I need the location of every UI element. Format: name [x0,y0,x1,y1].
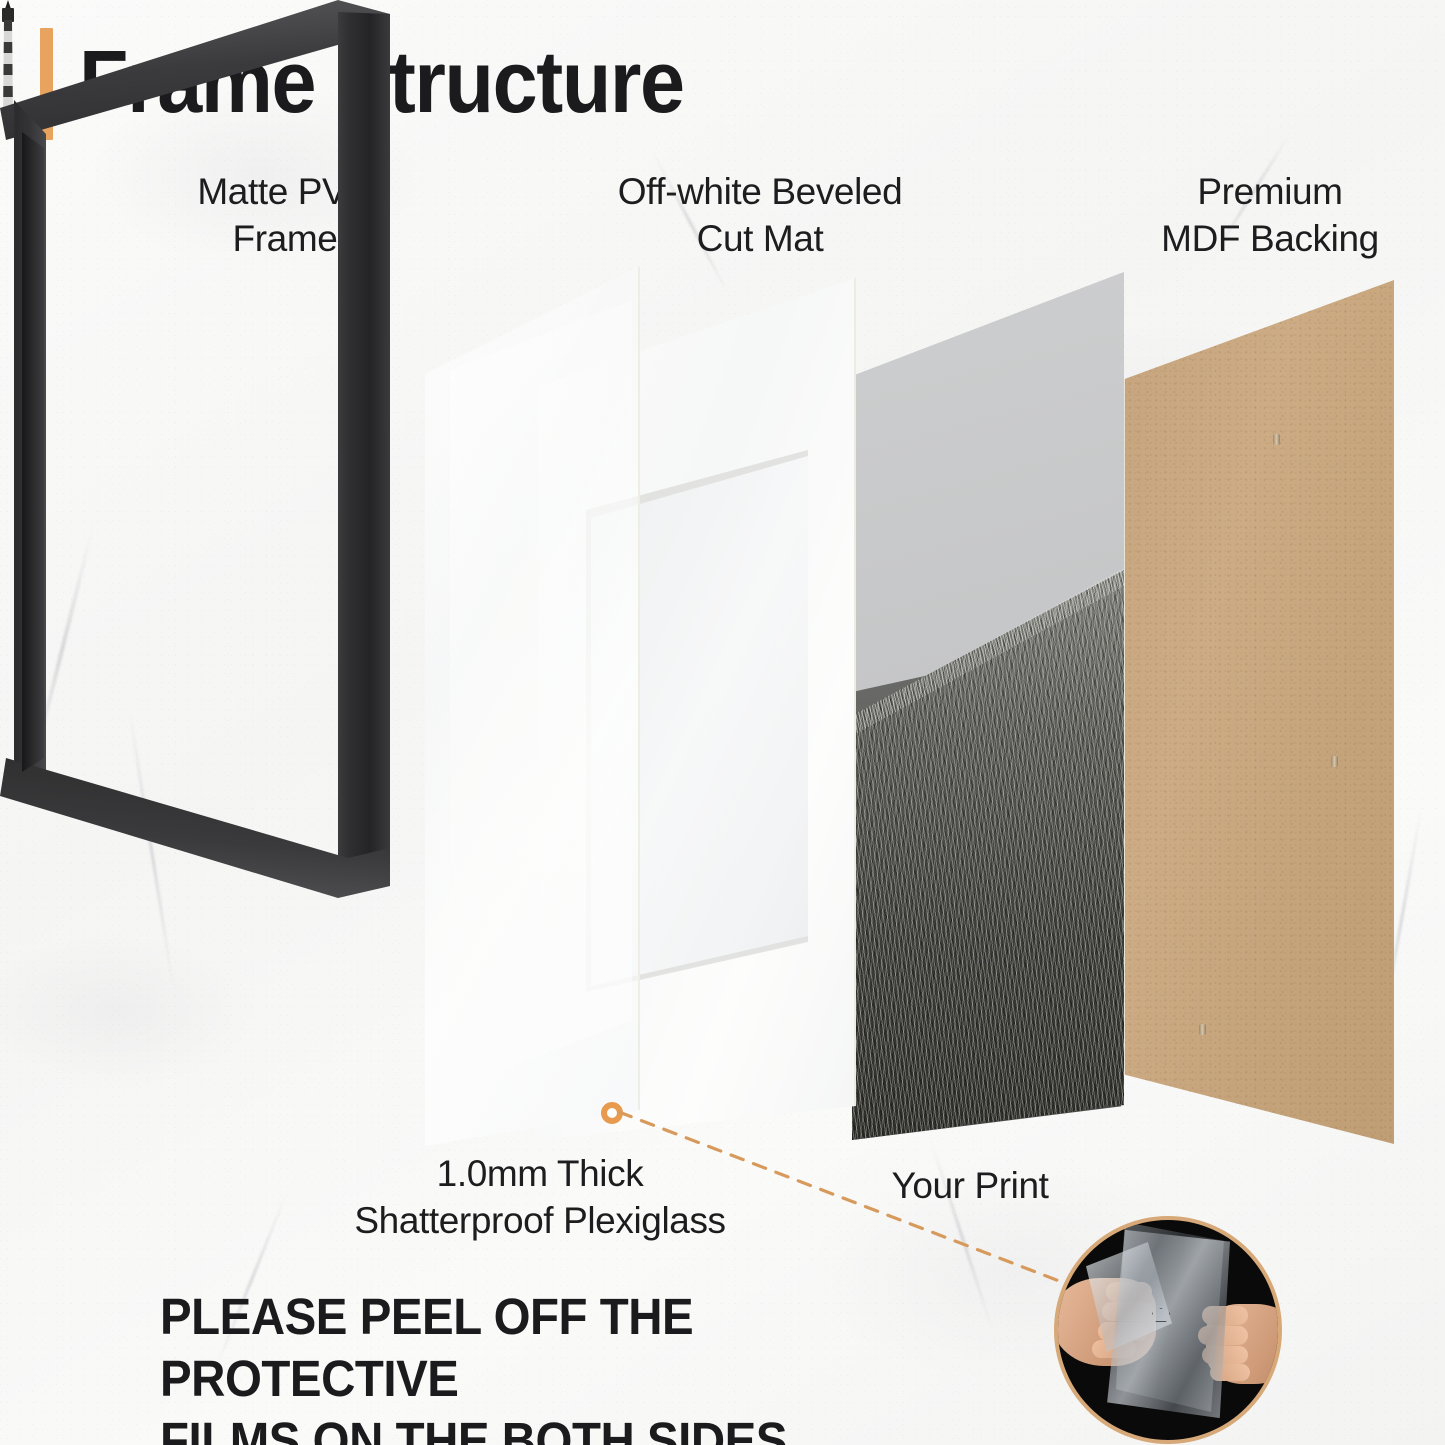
label-plexiglass-thickness: 1.0mm Thick Shatterproof Plexiglass [290,1150,790,1244]
peel-warning-block: PLEASE PEEL OFF THE PROTECTIVE FILMS ON … [160,1286,1040,1445]
callout-dot-icon [601,1102,623,1124]
protective-film-peel-photo [1054,1216,1282,1444]
lighthouse-striped-tower [3,20,13,118]
label-premium-mdf-backing: Premium MDF Backing [1100,168,1440,262]
label-matte-pvc-frame: Matte PVC Frame [115,168,455,262]
lighthouse-lamp-room [2,8,14,22]
label-off-white-beveled-cut-mat: Off-white Beveled Cut Mat [535,168,985,262]
staple-icon [1331,756,1338,767]
staple-icon [1199,1024,1206,1035]
plexiglass-sheen [432,300,632,1120]
frame-inner-lip [22,132,44,772]
mdf-board-icon [1122,276,1394,1158]
staple-icon [1273,434,1280,445]
peel-warning-text: PLEASE PEEL OFF THE PROTECTIVE FILMS ON … [160,1286,978,1445]
label-your-print: Your Print [860,1162,1080,1209]
product-infographic: Frame Structure Matte PVC Frame Off-whit… [0,0,1445,1445]
